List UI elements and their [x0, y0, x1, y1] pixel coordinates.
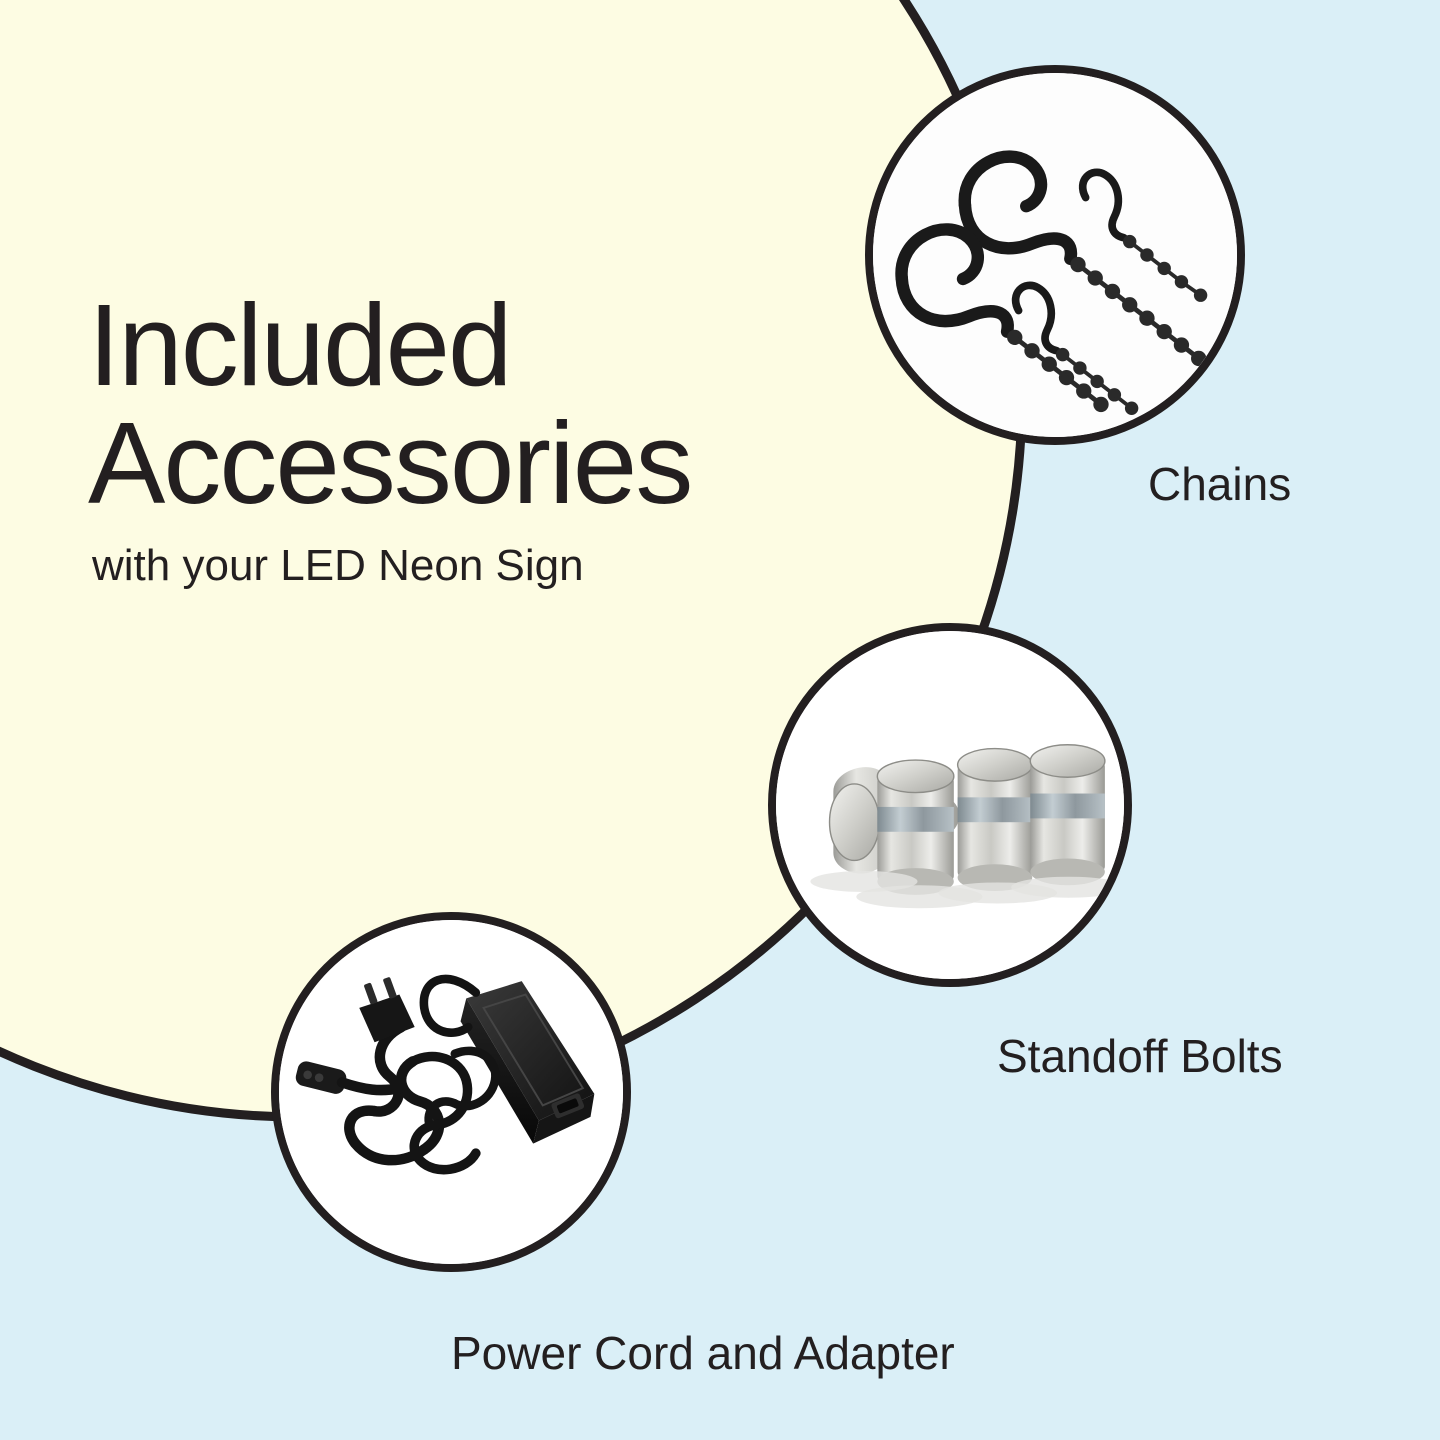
standoff-bolt-2 — [958, 749, 1033, 891]
standoff-bolt-3 — [1030, 745, 1105, 886]
callout-label-power-cord: Power Cord and Adapter — [451, 1326, 955, 1380]
power-adapter-photo-icon — [279, 920, 623, 1264]
standoff-bolts-photo-icon — [776, 631, 1124, 979]
infographic-canvas: Included Accessories with your LED Neon … — [0, 0, 1440, 1440]
chains-photo-icon — [873, 73, 1237, 437]
heading-subtitle: with your LED Neon Sign — [92, 541, 908, 591]
callout-label-chains: Chains — [1148, 457, 1291, 511]
callout-label-standoff-bolts: Standoff Bolts — [997, 1029, 1283, 1083]
callout-bubble-chains — [865, 65, 1245, 445]
callout-bubble-standoff-bolts — [768, 623, 1132, 987]
heading-line-1: Included — [88, 286, 908, 404]
heading-block: Included Accessories with your LED Neon … — [88, 286, 908, 591]
callout-bubble-power-cord — [271, 912, 631, 1272]
heading-line-2: Accessories — [88, 404, 908, 522]
